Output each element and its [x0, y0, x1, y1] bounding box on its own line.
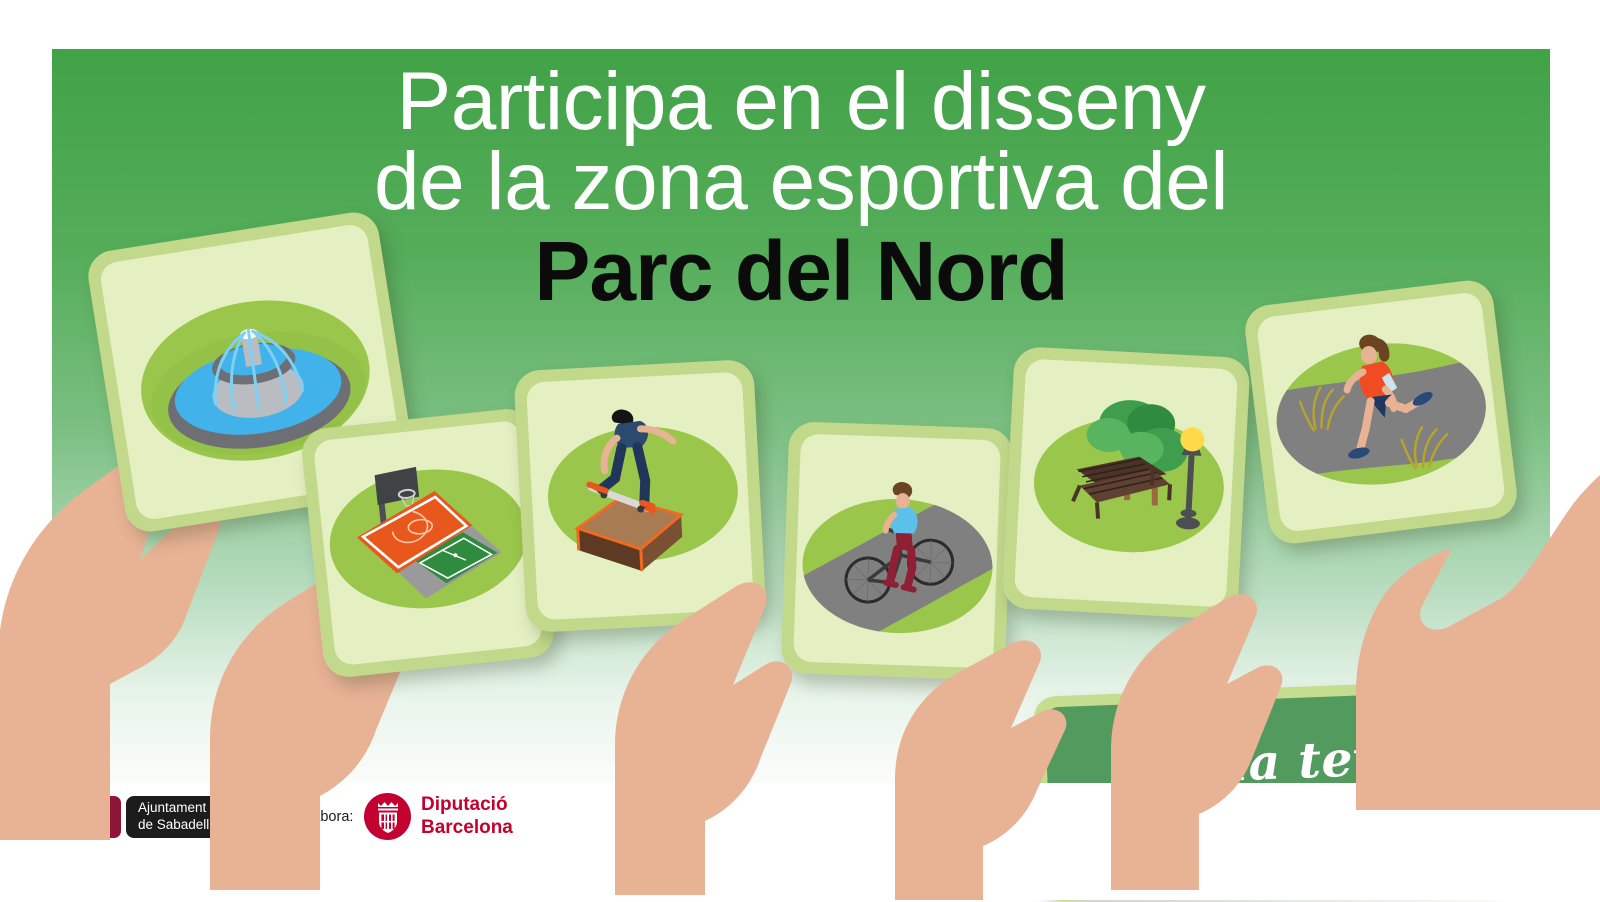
hand-fifth [1075, 530, 1325, 890]
hand-right-outer [1330, 430, 1600, 810]
hand-center [575, 495, 855, 895]
poster-canvas: Participa en el disseny de la zona espor… [0, 0, 1600, 900]
card-sports-court-face [313, 420, 543, 667]
sports-court-icon [313, 420, 543, 667]
